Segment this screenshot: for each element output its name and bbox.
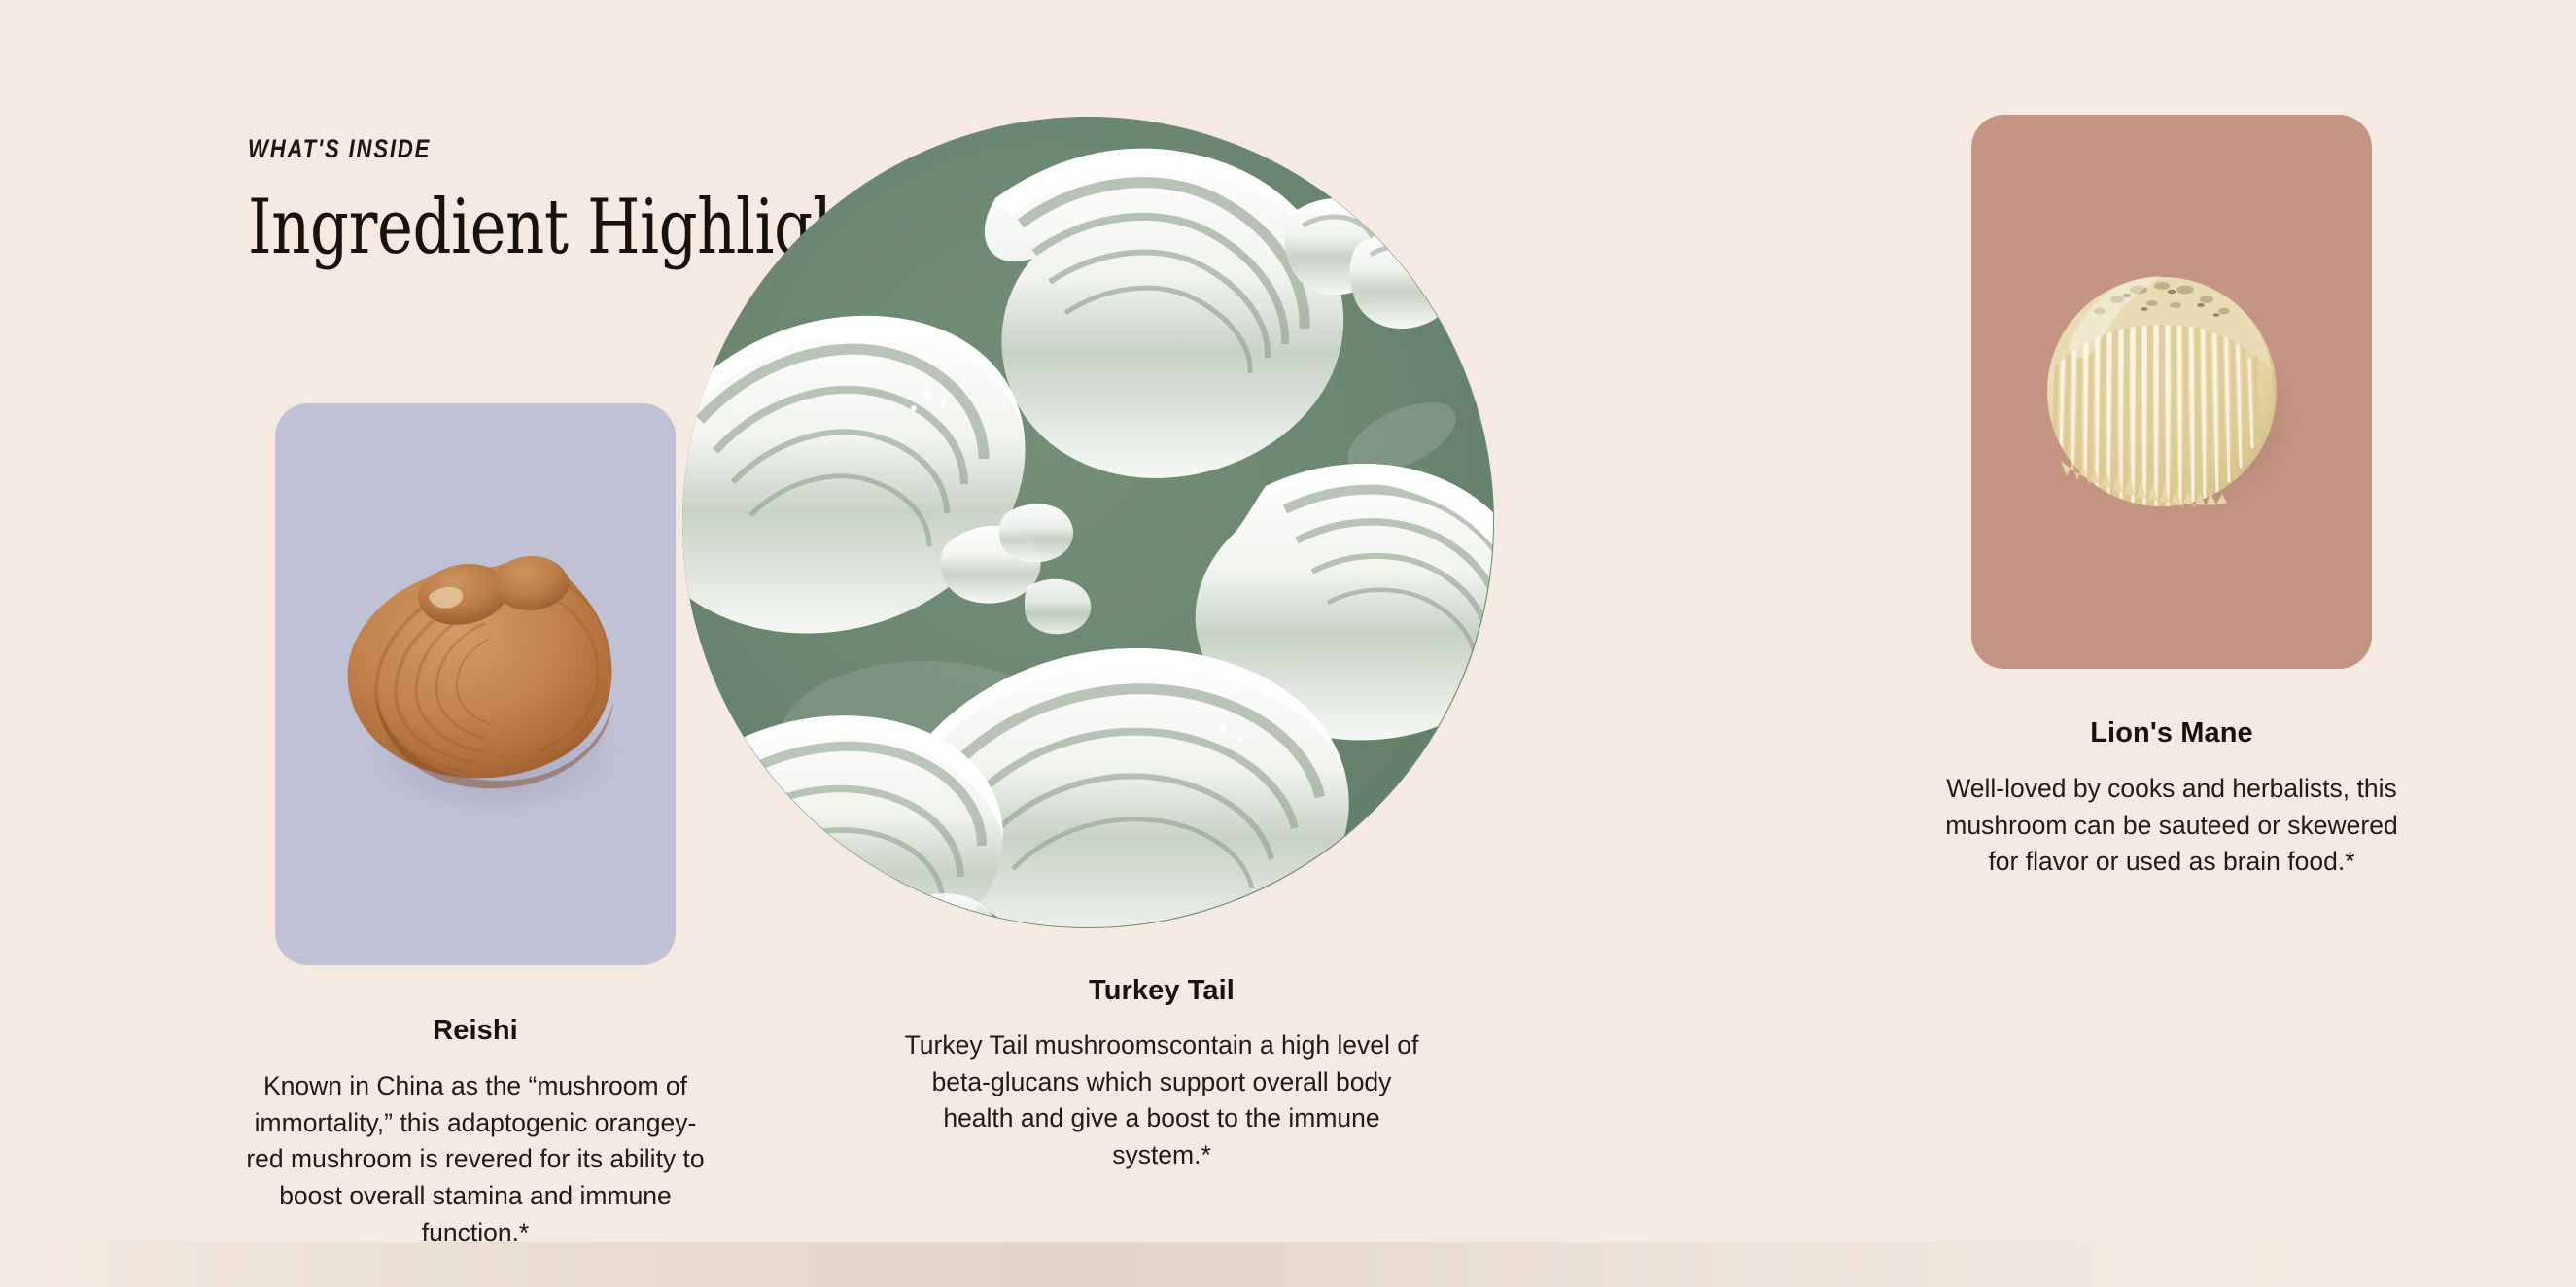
turkey-tail-mushroom-image <box>682 117 1494 928</box>
lions-mane-image-frame <box>1971 115 2372 669</box>
reishi-mushroom-image <box>275 403 676 965</box>
ingredient-name: Reishi <box>433 1015 518 1047</box>
ingredient-card-reishi[interactable]: Reishi Known in China as the “mushroom o… <box>237 403 714 1251</box>
ingredient-description: Known in China as the “mushroom of immor… <box>237 1068 714 1251</box>
ingredient-card-lions-mane[interactable]: Lion's Mane Well-loved by cooks and herb… <box>1940 115 2403 881</box>
ingredient-highlight-section: WHAT'S INSIDE Ingredient Highlight <box>0 0 2576 1287</box>
ingredient-card-turkey-tail[interactable]: Turkey Tail Turkey Tail mushroomscontain… <box>904 117 1419 1174</box>
ingredient-name: Turkey Tail <box>1089 975 1235 1007</box>
turkey-tail-image-frame <box>682 117 1494 928</box>
ingredient-description: Turkey Tail mushroomscontain a high leve… <box>904 1027 1419 1174</box>
reishi-image-frame <box>275 403 676 965</box>
lions-mane-mushroom-image <box>1971 115 2372 669</box>
ingredient-description: Well-loved by cooks and herbalists, this… <box>1940 771 2403 881</box>
ingredient-name: Lion's Mane <box>2090 717 2253 749</box>
